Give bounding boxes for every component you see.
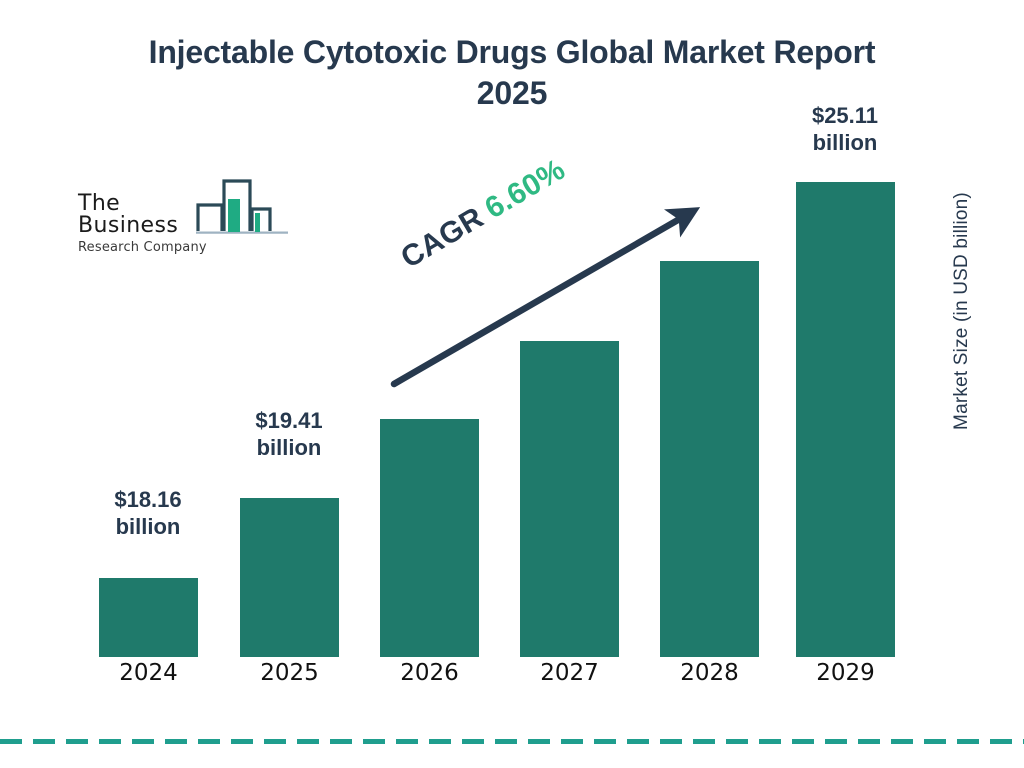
footer-divider <box>0 731 1024 736</box>
growth-arrow-icon <box>380 190 720 400</box>
value-label-2024: $18.16 billion <box>79 487 217 541</box>
bar-2029[interactable] <box>796 182 895 657</box>
value-label-2029-amount: $25.11 <box>776 103 914 130</box>
x-tick-2024: 2024 <box>99 660 198 686</box>
bar-2025[interactable] <box>240 498 339 657</box>
value-label-2029-unit: billion <box>776 130 914 157</box>
bar-2026[interactable] <box>380 419 479 657</box>
value-label-2024-unit: billion <box>79 514 217 541</box>
value-label-2029: $25.11 billion <box>776 103 914 157</box>
plot-area: $18.16 billion $19.41 billion $25.11 bil… <box>0 0 1024 768</box>
bar-2024[interactable] <box>99 578 198 657</box>
value-label-2025-unit: billion <box>220 435 358 462</box>
x-tick-2029: 2029 <box>796 660 895 686</box>
chart-canvas: Injectable Cytotoxic Drugs Global Market… <box>0 0 1024 768</box>
x-tick-2025: 2025 <box>240 660 339 686</box>
x-tick-2027: 2027 <box>520 660 619 686</box>
value-label-2025: $19.41 billion <box>220 408 358 462</box>
x-tick-2026: 2026 <box>380 660 479 686</box>
value-label-2024-amount: $18.16 <box>79 487 217 514</box>
x-tick-2028: 2028 <box>660 660 759 686</box>
y-axis-title: Market Size (in USD billion) <box>951 131 973 491</box>
value-label-2025-amount: $19.41 <box>220 408 358 435</box>
